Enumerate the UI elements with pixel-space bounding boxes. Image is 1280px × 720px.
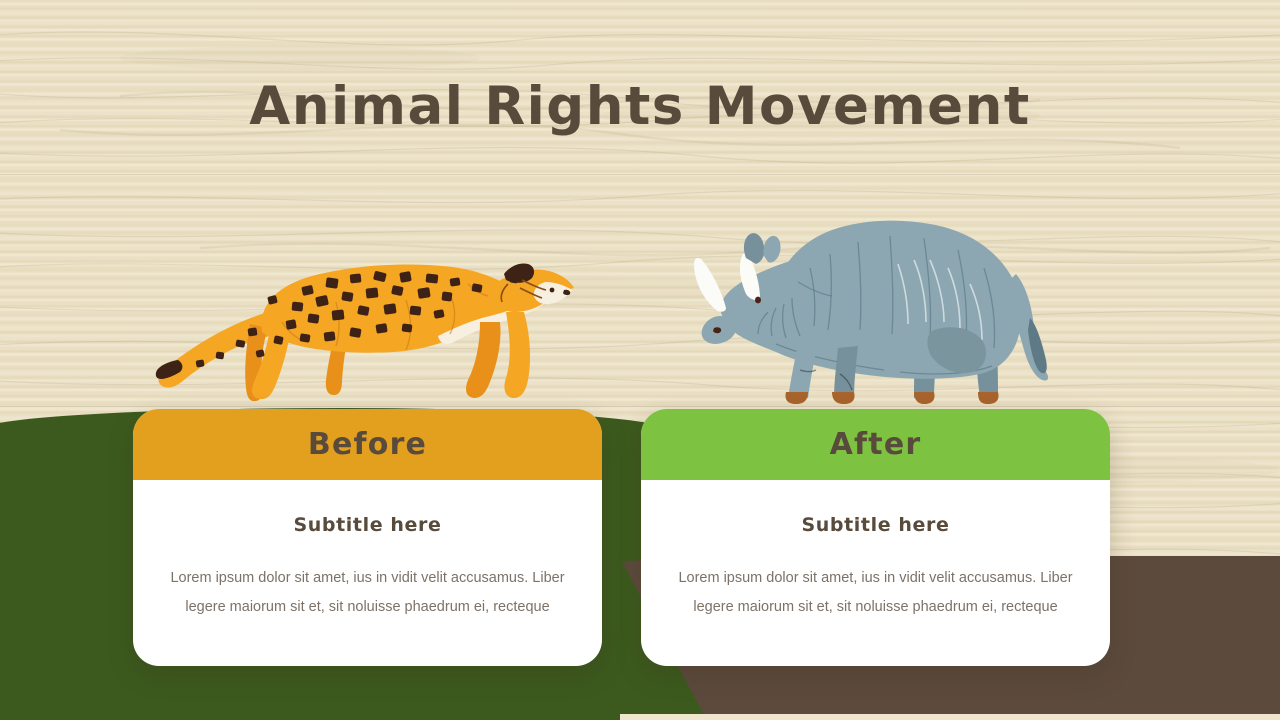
card-subtitle: Subtitle here xyxy=(802,514,950,536)
card-body-before: Subtitle here Lorem ipsum dolor sit amet… xyxy=(133,480,602,666)
card-header-label: Before xyxy=(308,427,427,462)
card-header-after: After xyxy=(641,409,1110,480)
slide-canvas: Animal Rights Movement xyxy=(0,0,1280,720)
comparison-card-before[interactable]: Before Subtitle here Lorem ipsum dolor s… xyxy=(133,409,602,666)
comparison-card-after[interactable]: After Subtitle here Lorem ipsum dolor si… xyxy=(641,409,1110,666)
page-title: Animal Rights Movement xyxy=(0,76,1280,138)
bottom-accent-strip xyxy=(620,714,1280,720)
plank-seam xyxy=(0,174,1280,176)
card-body-text: Lorem ipsum dolor sit amet, ius in vidit… xyxy=(677,564,1074,622)
card-body-after: Subtitle here Lorem ipsum dolor sit amet… xyxy=(641,480,1110,666)
card-header-label: After xyxy=(830,427,922,462)
card-header-before: Before xyxy=(133,409,602,480)
card-subtitle: Subtitle here xyxy=(294,514,442,536)
cheetah-illustration xyxy=(150,240,580,420)
card-body-text: Lorem ipsum dolor sit amet, ius in vidit… xyxy=(169,564,566,622)
rhino-illustration xyxy=(680,212,1060,424)
